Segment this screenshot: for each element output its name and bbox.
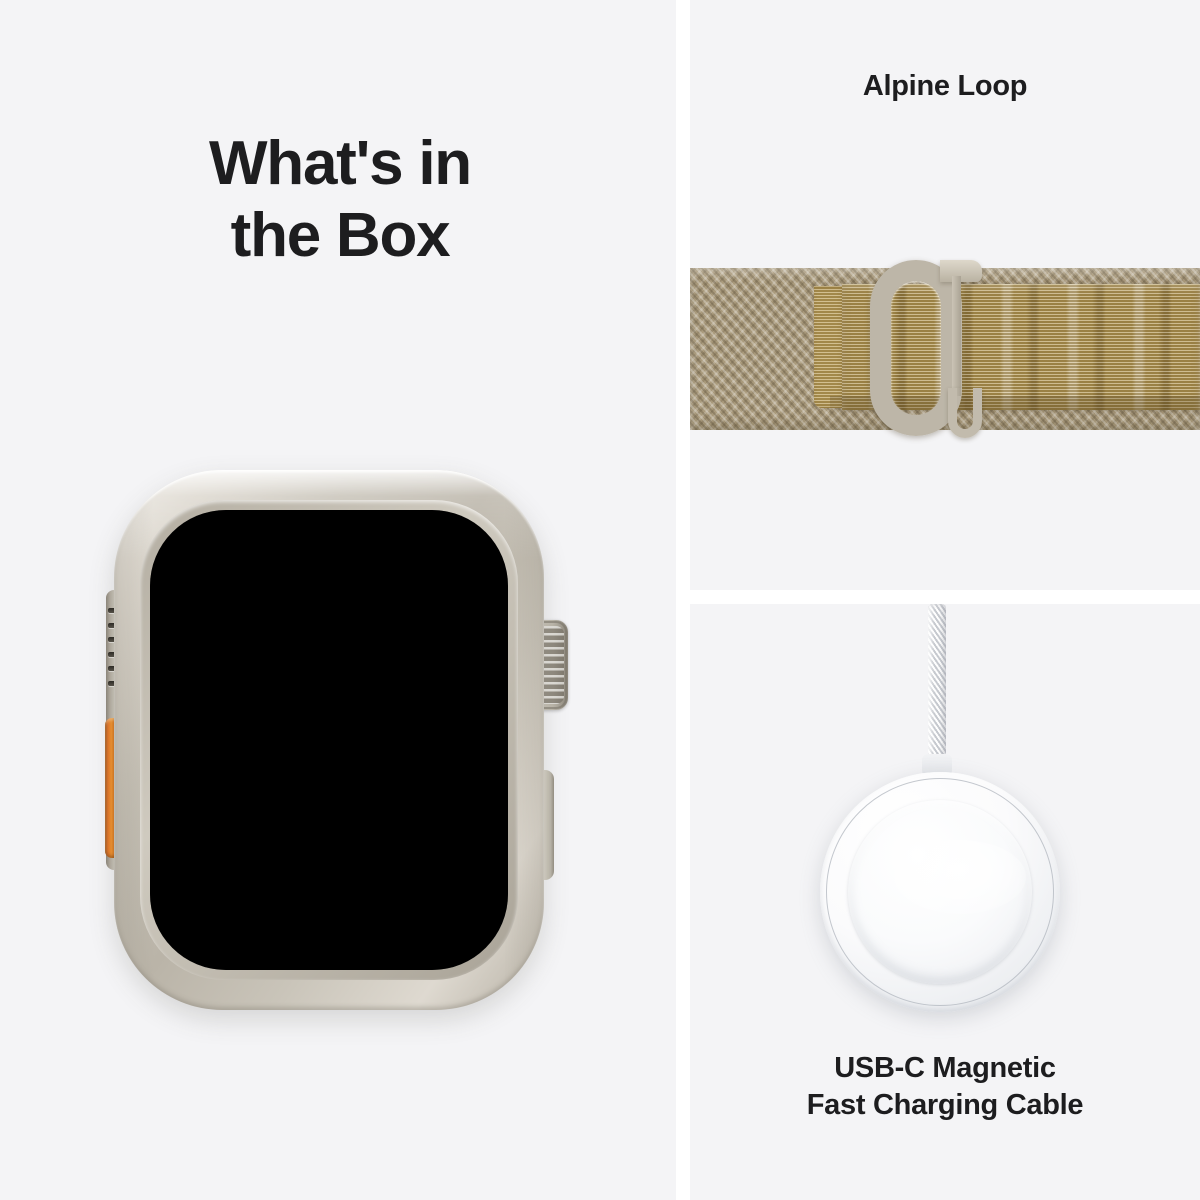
charger-puck-highlight — [894, 840, 1026, 914]
braided-cable — [928, 604, 946, 766]
watch-case — [114, 470, 544, 1010]
magnetic-charger-image — [690, 604, 1200, 1044]
page-title-line-1: What's in — [90, 128, 590, 200]
alpine-loop-label: Alpine Loop — [690, 70, 1200, 104]
charging-cable-label-line-1: USB-C Magnetic — [690, 1050, 1200, 1087]
buckle-hook — [948, 388, 982, 438]
charging-cable-label: USB-C Magnetic Fast Charging Cable — [690, 1050, 1200, 1124]
watch-display[interactable] — [150, 510, 508, 970]
buckle-top-bar — [940, 260, 982, 282]
page-title-line-2: the Box — [90, 200, 590, 272]
charger-puck — [820, 772, 1060, 1012]
charger-puck-inner — [848, 800, 1032, 984]
page-title: What's in the Box — [90, 128, 590, 272]
alpine-loop-band-image — [690, 268, 1200, 430]
g-hook-buckle — [870, 260, 982, 442]
buckle-stem — [952, 276, 961, 396]
charging-cable-label-line-2: Fast Charging Cable — [690, 1087, 1200, 1124]
panel-watch: What's in the Box — [0, 0, 676, 1200]
panel-charging-cable: USB-C Magnetic Fast Charging Cable — [690, 604, 1200, 1200]
whats-in-the-box-figure: What's in the Box Alpi — [0, 0, 1200, 1200]
panel-alpine-loop: Alpine Loop — [690, 0, 1200, 590]
apple-watch-ultra-image — [100, 470, 570, 1010]
